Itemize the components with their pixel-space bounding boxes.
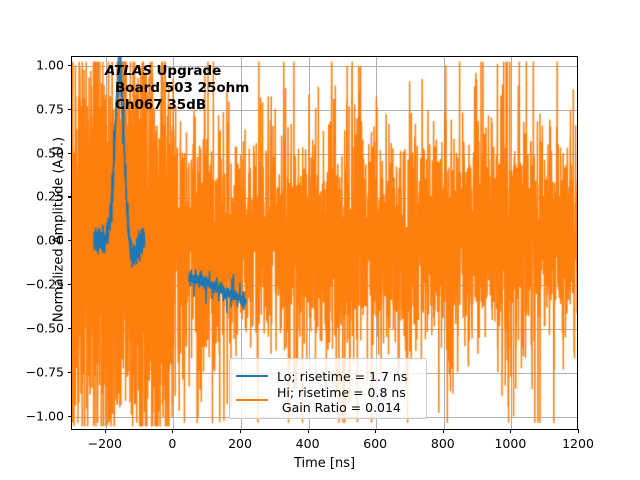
x-tick-mark: [172, 429, 173, 433]
y-tick-mark: [68, 196, 72, 197]
plot-area: ATLAS Upgrade Board 503 25ohm Ch067 35dB…: [71, 56, 578, 430]
x-tick-mark: [375, 429, 376, 433]
y-tick-mark: [68, 416, 72, 417]
x-tick-label: −200: [88, 436, 122, 451]
x-tick-label: 600: [363, 436, 387, 451]
chart-figure: −1.00−0.75−0.50−0.250.000.250.500.751.00…: [0, 0, 640, 480]
x-tick-label: 1200: [562, 436, 594, 451]
chart-legend: Lo; risetime = 1.7 ns Hi; risetime = 0.8…: [229, 358, 427, 419]
x-tick-label: 0: [168, 436, 176, 451]
x-tick-label: 800: [431, 436, 455, 451]
legend-swatch-lo: [236, 375, 268, 377]
y-tick-mark: [68, 109, 72, 110]
x-tick-label: 200: [228, 436, 252, 451]
y-tick-mark: [68, 372, 72, 373]
legend-swatch-hi: [236, 399, 268, 401]
legend-label-hi: Hi; risetime = 0.8 ns Gain Ratio = 0.014: [277, 385, 406, 415]
x-tick-label: 1000: [494, 436, 526, 451]
x-tick-label: 400: [296, 436, 320, 451]
x-tick-mark: [510, 429, 511, 433]
y-tick-mark: [68, 284, 72, 285]
y-axis-label: Normalized Amplitude (A.U.): [52, 43, 67, 417]
legend-entry-hi: Hi; risetime = 0.8 ns Gain Ratio = 0.014: [236, 388, 420, 412]
x-tick-mark: [105, 429, 106, 433]
y-tick-mark: [68, 65, 72, 66]
y-tick-mark: [68, 328, 72, 329]
x-tick-mark: [578, 429, 579, 433]
x-tick-mark: [240, 429, 241, 433]
x-axis-label: Time [ns]: [71, 456, 578, 471]
legend-label-lo: Lo; risetime = 1.7 ns: [277, 369, 407, 384]
y-tick-mark: [68, 153, 72, 154]
y-tick-mark: [68, 240, 72, 241]
x-tick-mark: [308, 429, 309, 433]
x-tick-mark: [443, 429, 444, 433]
